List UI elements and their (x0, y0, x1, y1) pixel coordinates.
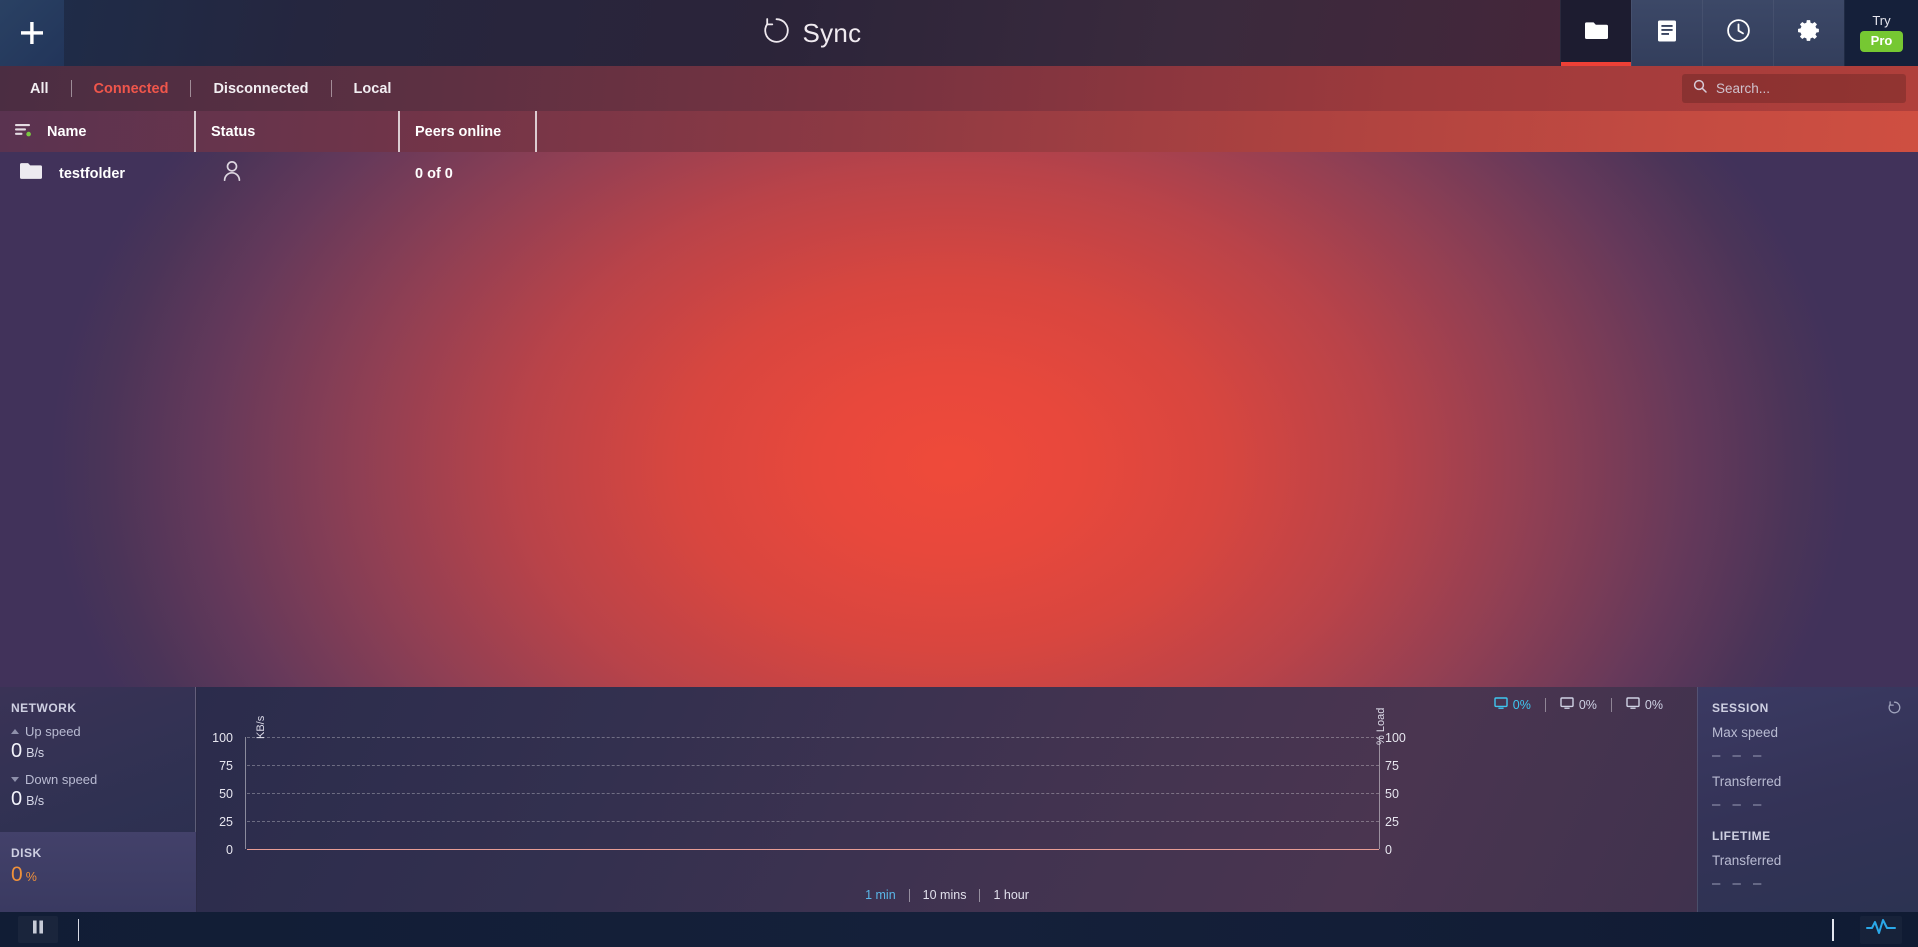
column-header-peers[interactable]: Peers online (400, 111, 537, 152)
plus-icon (19, 20, 45, 46)
time-range-10mins[interactable]: 10 mins (910, 888, 980, 902)
cpu-indicator-3[interactable]: 0% (1612, 697, 1677, 713)
column-header-name[interactable]: Name (0, 111, 196, 152)
search-icon (1693, 79, 1707, 98)
up-speed-number: 0 (11, 740, 22, 762)
try-pro-button[interactable]: Try Pro (1844, 0, 1918, 66)
down-speed-value: 0B/s (11, 788, 195, 811)
status-bar (0, 912, 1918, 947)
search-input[interactable] (1716, 81, 1895, 96)
disk-number: 0 (11, 863, 23, 886)
folder-icon (1584, 20, 1609, 46)
table-row[interactable]: testfolder 0 of 0 (0, 152, 1918, 195)
add-folder-button[interactable] (0, 0, 64, 66)
cell-name: testfolder (0, 161, 196, 186)
disk-value: 0% (11, 863, 196, 887)
lifetime-transferred-value: – – – (1712, 875, 1918, 892)
cpu-indicator-2[interactable]: 0% (1546, 697, 1611, 713)
disk-unit: % (26, 870, 37, 884)
network-speed-series (247, 849, 1379, 850)
lifetime-transferred-label: Transferred (1712, 853, 1918, 868)
network-disk-column: NETWORK Up speed 0B/s Down speed 0B/s DI… (0, 687, 196, 912)
chart-area: 0% 0% 0% (197, 687, 1697, 912)
y-tick-left-25: 25 (197, 815, 233, 829)
y-tick-right-100: 100 (1385, 731, 1425, 745)
session-max-speed-value: – – – (1712, 747, 1918, 764)
status-divider (78, 919, 79, 941)
up-speed-value: 0B/s (11, 740, 195, 763)
column-header-filler (537, 111, 1918, 152)
gear-icon (1797, 18, 1822, 48)
network-plot: 100 75 50 25 0 100 75 50 25 0 KB/s % Loa… (197, 717, 1697, 877)
column-header-name-label: Name (47, 124, 87, 140)
cpu-indicator-3-value: 0% (1645, 698, 1663, 712)
column-header-status-label: Status (211, 124, 255, 140)
y-tick-right-25: 25 (1385, 815, 1425, 829)
y-axis-right (1379, 737, 1380, 849)
search-box[interactable] (1682, 74, 1906, 103)
folder-name: testfolder (59, 166, 125, 182)
filter-local[interactable]: Local (332, 81, 414, 97)
clock-icon (1726, 18, 1751, 48)
section-gap (1712, 813, 1918, 821)
folder-icon (19, 161, 44, 186)
time-range-selector: 1 min 10 mins 1 hour (197, 888, 1697, 902)
pro-badge: Pro (1860, 31, 1904, 52)
app-brand: Sync (64, 0, 1560, 66)
disk-title: DISK (11, 846, 196, 860)
activity-pulse-icon (1866, 918, 1896, 941)
y-tick-right-0: 0 (1385, 843, 1425, 857)
history-tab[interactable] (1702, 0, 1773, 66)
pause-button[interactable] (18, 916, 58, 943)
down-speed-unit: B/s (26, 794, 44, 808)
down-speed-label: Down speed (11, 772, 195, 787)
session-title: SESSION (1712, 701, 1769, 715)
top-nav (1560, 0, 1844, 66)
sort-filter-icon[interactable] (14, 122, 33, 141)
sync-circle-arrows-icon (762, 16, 791, 50)
column-header-status[interactable]: Status (196, 111, 400, 152)
session-transferred-value: – – – (1712, 796, 1918, 813)
network-title: NETWORK (11, 701, 195, 715)
up-speed-label-text: Up speed (25, 724, 81, 739)
filter-list: All Connected Disconnected Local (0, 80, 413, 97)
person-icon (222, 160, 242, 187)
activity-button[interactable] (1860, 916, 1902, 944)
cell-status (196, 160, 400, 187)
down-speed-label-text: Down speed (25, 772, 97, 787)
down-speed-number: 0 (11, 788, 22, 810)
stats-panel: NETWORK Up speed 0B/s Down speed 0B/s DI… (0, 687, 1918, 912)
time-range-1hour[interactable]: 1 hour (980, 888, 1041, 902)
y-tick-right-75: 75 (1385, 759, 1425, 773)
session-max-speed-label: Max speed (1712, 725, 1918, 740)
document-icon (1656, 19, 1678, 48)
arrow-down-icon (11, 777, 19, 782)
app-title: Sync (802, 18, 861, 49)
arrow-up-icon (11, 729, 19, 734)
pause-icon (31, 919, 45, 940)
reset-icon[interactable] (1887, 700, 1902, 720)
filter-bar: All Connected Disconnected Local (0, 66, 1918, 111)
status-bar-right (1832, 916, 1918, 944)
settings-tab[interactable] (1773, 0, 1844, 66)
cpu-indicator-row: 0% 0% 0% (1480, 697, 1677, 713)
session-transferred-label: Transferred (1712, 774, 1918, 789)
gridline-25 (247, 821, 1379, 822)
y-axis-left-title: KB/s (255, 716, 267, 739)
monitor-icon (1626, 697, 1640, 713)
column-header-peers-label: Peers online (415, 124, 501, 140)
cpu-indicator-1-value: 0% (1513, 698, 1531, 712)
y-tick-right-50: 50 (1385, 787, 1425, 801)
y-tick-left-0: 0 (197, 843, 233, 857)
top-bar: Sync (0, 0, 1918, 66)
y-axis-left (245, 737, 246, 849)
lifetime-title: LIFETIME (1712, 829, 1918, 843)
monitor-icon (1494, 697, 1508, 713)
folders-tab[interactable] (1560, 0, 1631, 66)
try-label: Try (1872, 14, 1890, 27)
gridline-50 (247, 793, 1379, 794)
network-section: NETWORK Up speed 0B/s Down speed 0B/s (0, 687, 195, 832)
filter-connected[interactable]: Connected (72, 81, 191, 97)
up-speed-label: Up speed (11, 724, 195, 739)
y-axis-right-title: % Load (1375, 708, 1387, 745)
status-divider-right (1832, 919, 1834, 941)
disk-section: DISK 0% (0, 832, 196, 912)
y-tick-left-100: 100 (197, 731, 233, 745)
gridline-100 (247, 737, 1379, 738)
cell-peers-online: 0 of 0 (400, 166, 537, 182)
filter-all[interactable]: All (8, 81, 71, 97)
gridline-75 (247, 765, 1379, 766)
table-header: Name Status Peers online (0, 111, 1918, 152)
y-tick-left-75: 75 (197, 759, 233, 773)
time-range-1min[interactable]: 1 min (852, 888, 909, 902)
filter-disconnected[interactable]: Disconnected (191, 81, 330, 97)
up-speed-unit: B/s (26, 746, 44, 760)
cpu-indicator-1[interactable]: 0% (1480, 697, 1545, 713)
cpu-indicator-2-value: 0% (1579, 698, 1597, 712)
monitor-icon (1560, 697, 1574, 713)
session-column: SESSION Max speed – – – Transferred – – … (1697, 687, 1918, 912)
devices-tab[interactable] (1631, 0, 1702, 66)
y-tick-left-50: 50 (197, 787, 233, 801)
